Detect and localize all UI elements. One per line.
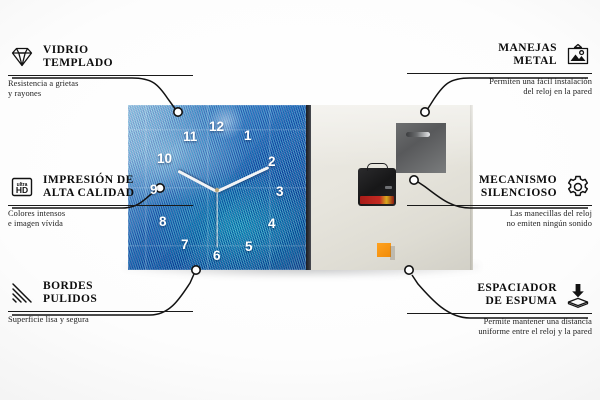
diamond-icon [8,43,36,71]
feature-description: Resistencia a grietas y rayones [8,79,193,99]
clock-numeral-3: 3 [276,185,284,199]
hanger-slot [406,132,430,137]
feature-title-line2: TEMPLADO [43,57,113,69]
feature-title-line1: IMPRESIÓN DE [43,174,134,186]
feature-divider [8,75,193,76]
feature-divider [407,313,592,314]
clock-numeral-9: 9 [150,183,158,197]
feature-desc-line1: Colores intensos [8,209,65,218]
clock-numeral-8: 8 [159,215,167,229]
clock-numeral-1: 1 [244,129,252,143]
feature-desc-line1: Permiten una fácil instalación [489,77,592,86]
feature-desc-line1: Superficie lisa y segura [8,315,89,324]
feature-title-line2: METAL [513,55,557,67]
clock-numeral-6: 6 [213,249,221,263]
feature-desc-line2: del reloj en la pared [523,87,592,96]
feature-title-line1: ESPACIADOR [477,282,557,294]
feature-divider [407,205,592,206]
feature-desc-line1: Resistencia a grietas [8,79,78,88]
clock-numeral-7: 7 [181,238,189,252]
foam-spacer-icon [564,281,592,309]
feature-title: BORDES PULIDOS [43,280,97,305]
feature-title: MECANISMO SILENCIOSO [479,174,557,199]
feature-head: ESPACIADOR DE ESPUMA [407,280,592,310]
ultra-hd-icon: ultra HD [8,173,36,201]
clock-movement-mechanism [358,168,396,206]
feature-title-line2: ALTA CALIDAD [43,187,134,199]
clock-center-cap [215,188,219,192]
feature-title: MANEJAS METAL [498,42,557,67]
clock-second-hand [216,192,217,248]
feature-desc-line2: e imagen vívida [8,219,63,228]
metal-hanger-plate [396,123,446,173]
feature-desc-line1: Permite mantener una distancia [484,317,592,326]
feature-desc-line2: uniforme entre el reloj y la pared [478,327,592,336]
feature-head: ultra HD IMPRESIÓN DE ALTA CALIDAD [8,172,193,202]
feature-title: ESPACIADOR DE ESPUMA [477,282,557,307]
feature-head: BORDES PULIDOS [8,278,193,308]
gear-icon [564,173,592,201]
clock-minute-hand [216,166,269,192]
feature-desc-line2: no emiten ningún sonido [507,219,592,228]
clock-front-face: 12 1 2 3 4 5 6 7 8 9 10 11 [128,105,306,270]
feature-divider [407,73,592,74]
feature-title: IMPRESIÓN DE ALTA CALIDAD [43,174,134,199]
clock-numeral-10: 10 [157,152,172,166]
feature-title-line1: MECANISMO [479,174,557,186]
feature-foam-spacer: ESPACIADOR DE ESPUMA Permite mantener un… [407,280,592,337]
feature-title-line1: VIDRIO [43,44,89,56]
clock-numeral-4: 4 [268,217,276,231]
feature-metal-hangers: MANEJAS METAL Permiten una fácil instala… [407,40,592,97]
feature-title-line1: MANEJAS [498,42,557,54]
feature-head: VIDRIO TEMPLADO [8,42,193,72]
feature-divider [8,311,193,312]
feature-polished-edges: BORDES PULIDOS Superficie lisa y segura [8,278,193,325]
feature-description: Permiten una fácil instalación del reloj… [407,77,592,97]
clock-numeral-5: 5 [245,240,253,254]
polished-edge-icon [8,279,36,307]
clock-numeral-2: 2 [268,155,276,169]
clock-numeral-11: 11 [183,130,197,144]
feature-description: Las manecillas del reloj no emiten ningú… [407,209,592,229]
feature-title-line2: DE ESPUMA [486,295,557,307]
feature-tempered-glass: VIDRIO TEMPLADO Resistencia a grietas y … [8,42,193,99]
product-infographic: 12 1 2 3 4 5 6 7 8 9 10 11 [0,0,600,400]
picture-hanger-icon [564,41,592,69]
feature-description: Permite mantener una distancia uniforme … [407,317,592,337]
feature-divider [8,205,193,206]
feature-title-line2: SILENCIOSO [481,187,557,199]
feature-description: Superficie lisa y segura [8,315,193,325]
svg-text:HD: HD [16,185,28,195]
feature-head: MANEJAS METAL [407,40,592,70]
feature-title-line1: BORDES [43,280,93,292]
feature-desc-line2: y rayones [8,89,41,98]
feature-title: VIDRIO TEMPLADO [43,44,113,69]
movement-handle [367,163,388,171]
feature-title-line2: PULIDOS [43,293,97,305]
movement-indicator [385,186,392,189]
clock-numeral-12: 12 [209,120,224,134]
feature-desc-line1: Las manecillas del reloj [510,209,592,218]
feature-silent-mechanism: MECANISMO SILENCIOSO Las manecillas del … [407,172,592,229]
foam-spacer-pad [377,243,391,257]
battery-compartment [360,196,394,204]
feature-head: MECANISMO SILENCIOSO [407,172,592,202]
